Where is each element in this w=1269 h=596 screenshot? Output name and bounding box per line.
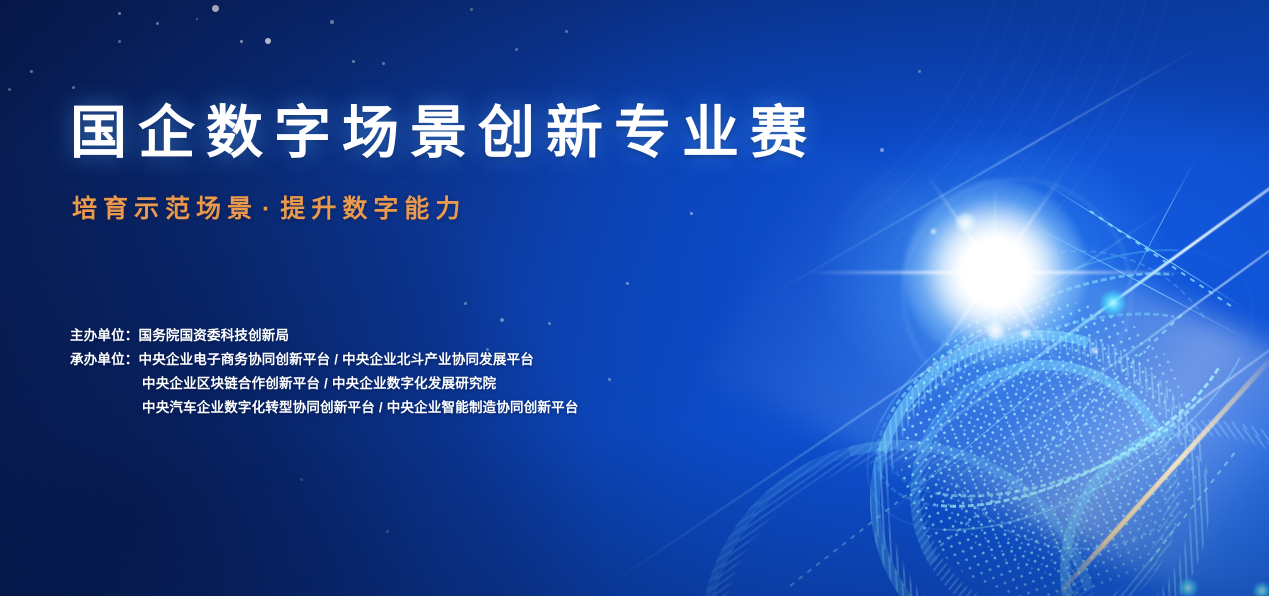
subtitle-left: 培育示范场景	[72, 195, 258, 223]
event-banner: 国企数字场景创新专业赛 培育示范场景·提升数字能力 主办单位：国务院国资委科技创…	[0, 0, 1269, 596]
organizer-line: 中央汽车企业数字化转型协同创新平台 / 中央企业智能制造协同创新平台	[70, 396, 579, 420]
organizer-line: 主办单位：国务院国资委科技创新局	[70, 324, 579, 348]
subtitle-separator: ·	[258, 195, 280, 223]
organizer-block: 主办单位：国务院国资委科技创新局 承办单位：中央企业电子商务协同创新平台 / 中…	[70, 324, 579, 420]
organizer-line: 承办单位：中央企业电子商务协同创新平台 / 中央企业北斗产业协同发展平台	[70, 348, 579, 372]
banner-content: 国企数字场景创新专业赛 培育示范场景·提升数字能力 主办单位：国务院国资委科技创…	[0, 0, 1269, 596]
event-title: 国企数字场景创新专业赛	[70, 102, 818, 164]
subtitle-right: 提升数字能力	[280, 195, 466, 223]
organizer-line: 中央企业区块链合作创新平台 / 中央企业数字化发展研究院	[70, 372, 579, 396]
event-subtitle: 培育示范场景·提升数字能力	[72, 194, 466, 224]
